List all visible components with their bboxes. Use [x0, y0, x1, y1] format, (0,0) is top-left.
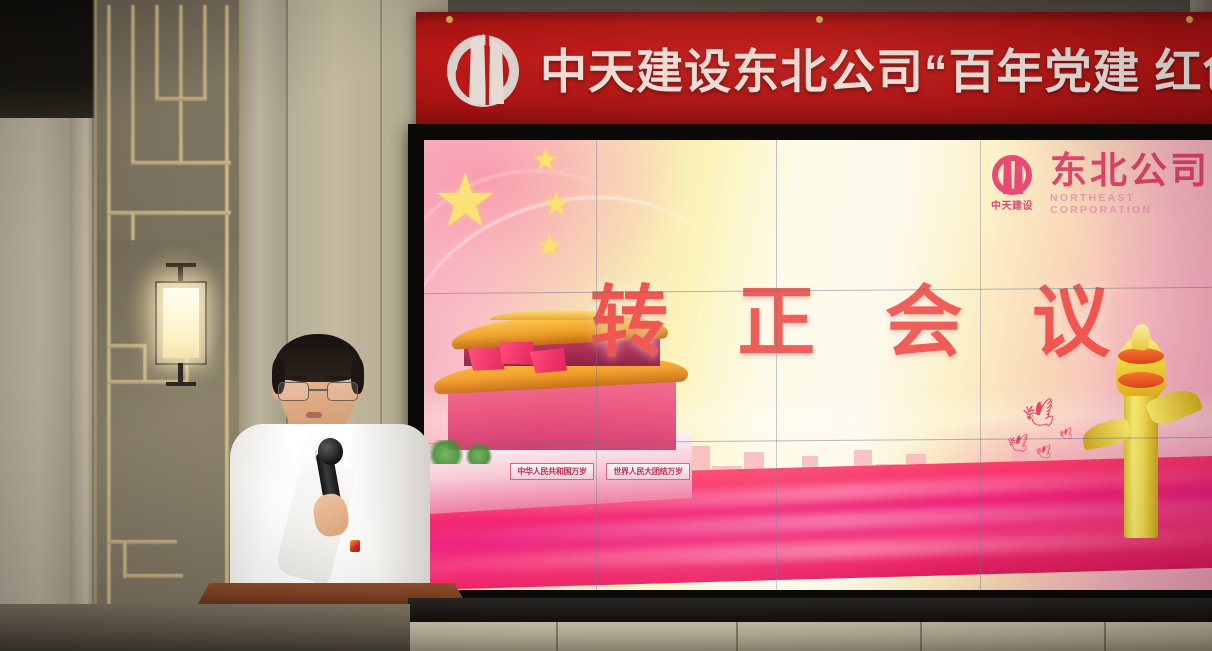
title-char: 转 [590, 283, 668, 361]
screen-company-logo: 中天建设 东北公司 NORTHEAST CORPORATION [986, 152, 1212, 216]
zhongtian-construction-logo-icon: 中天建设 [986, 153, 1038, 215]
banner-hook [816, 16, 823, 23]
slide-main-title: 转 正 会 议 [590, 283, 1110, 361]
flag-star-small: ★ [532, 146, 559, 176]
wall-sconce-frame [155, 281, 207, 365]
title-char: 议 [1032, 283, 1110, 361]
dove-icon: 🕊 [1007, 434, 1031, 454]
stage-front-panel [408, 622, 1212, 651]
eyeglasses-icon [278, 382, 358, 401]
lamp-foot [166, 382, 196, 386]
flag-star-large: ★ [432, 164, 498, 238]
chinese-lattice-screen-upper [94, 0, 242, 264]
stage-panel-seam [556, 622, 558, 651]
torch-ring [1118, 372, 1164, 388]
gate-slogan-left: 中华人民共和国万岁 [510, 463, 594, 480]
mouth [306, 412, 322, 418]
company-name-en: NORTHEAST CORPORATION [1050, 192, 1212, 216]
dove-icon: 🕊 [1035, 444, 1054, 461]
video-wall-seam-vertical [776, 140, 777, 590]
video-wall-seam-vertical [596, 140, 597, 590]
floor-left [0, 604, 410, 651]
stage-base-dark [408, 598, 1212, 624]
hair [274, 334, 362, 382]
logo-subtext: 中天建设 [986, 197, 1038, 212]
eyebrow-right [326, 376, 350, 380]
torch-ring [1118, 348, 1164, 364]
banner-text: 中天建设东北公司“百年党建 红色记忆”党日活动 [540, 48, 1212, 95]
zhongtian-construction-logo-icon [440, 30, 526, 112]
company-name-cn: 东北公司 [1050, 152, 1212, 189]
flag-star-small: ★ [536, 232, 563, 262]
title-char: 会 [885, 283, 963, 361]
stage-panel-seam [1104, 622, 1106, 651]
gate-shrub [466, 444, 492, 464]
video-wall-seam-vertical [980, 140, 981, 590]
flag-star-small: ★ [542, 188, 571, 220]
stage-panel-seam [736, 622, 738, 651]
banner-hook [1186, 16, 1193, 23]
gate-slogan-right: 世界人民大团结万岁 [606, 463, 690, 480]
lamp-light [163, 288, 199, 358]
event-banner: 中天建设东北公司“百年党建 红色记忆”党日活动 [416, 12, 1212, 130]
banner-hook [446, 16, 453, 23]
party-emblem-pin [350, 540, 360, 552]
wall-dark-corner [0, 0, 96, 118]
led-video-wall-screen: ★ ★ ★ ★ 🕊 🕊 🕊 🕊 [424, 140, 1212, 590]
eyebrow-left [284, 376, 308, 380]
stage-panel-seam [920, 622, 922, 651]
photograph-scene: 中天建设东北公司“百年党建 红色记忆”党日活动 ★ ★ ★ ★ [0, 0, 1212, 651]
